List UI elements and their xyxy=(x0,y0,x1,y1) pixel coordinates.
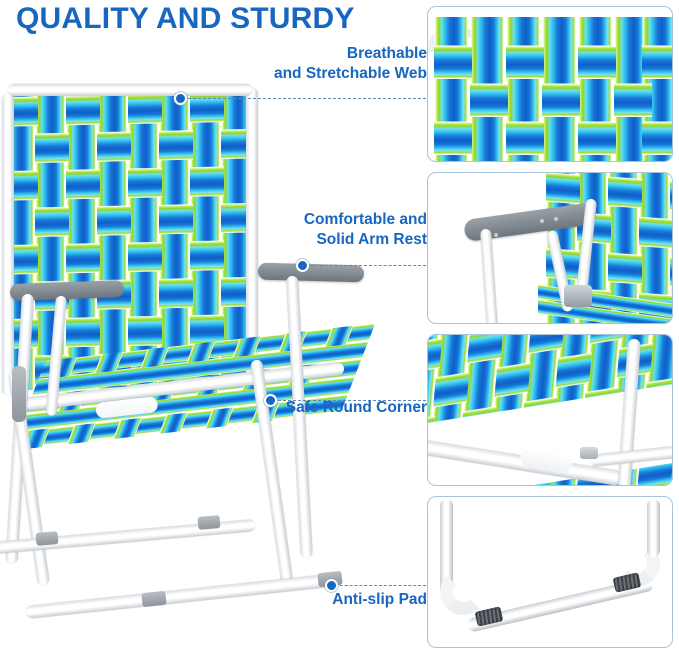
callout-anti-slip-pad: Anti-slip Pad xyxy=(332,590,427,610)
connector-line-web xyxy=(178,98,426,99)
anti-slip-panel-right-tube xyxy=(647,499,660,557)
callout-arm-rest-line1: Comfortable and xyxy=(304,210,427,230)
side-hinge-bracket xyxy=(12,366,26,422)
webbing-weave-pattern xyxy=(428,7,672,161)
armrest-rivet-2 xyxy=(554,217,558,221)
callout-breathable-web-line2: and Stretchable Web xyxy=(274,64,427,84)
armrest-marker-dot xyxy=(296,259,309,272)
anti-slip-pad-closeup-panel xyxy=(427,496,673,648)
main-product-image xyxy=(0,72,420,642)
pad-marker-dot xyxy=(325,579,338,592)
armrest-rivet-3 xyxy=(494,233,498,237)
callout-anti-slip-pad-line1: Anti-slip Pad xyxy=(332,590,427,610)
connector-line-pad xyxy=(330,585,426,586)
callout-round-corner: Safe Round Corner xyxy=(286,398,427,418)
armrest-panel-front-leg xyxy=(480,229,498,323)
round-corner-panel-bracket xyxy=(580,447,598,459)
backrest-left-tube xyxy=(2,94,14,394)
callout-breathable-web: Breathable and Stretchable Web xyxy=(274,44,427,84)
webbing-closeup-panel xyxy=(427,6,673,162)
foot-pad-front-left xyxy=(141,591,166,607)
backrest-top-tube xyxy=(8,84,252,96)
web-marker-dot xyxy=(174,92,187,105)
callout-arm-rest-line2: Solid Arm Rest xyxy=(304,230,427,250)
callout-round-corner-line1: Safe Round Corner xyxy=(286,398,427,418)
corner-marker-dot xyxy=(264,394,277,407)
callout-arm-rest: Comfortable and Solid Arm Rest xyxy=(304,210,427,250)
anti-slip-panel-left-elbow xyxy=(440,569,486,615)
backrest-right-tube xyxy=(246,88,258,378)
round-corner-closeup-panel xyxy=(427,334,673,486)
connector-line-arm xyxy=(300,265,426,266)
foot-pad-rear-right xyxy=(197,515,220,530)
callout-breathable-web-line1: Breathable xyxy=(274,44,427,64)
front-bottom-rail xyxy=(25,573,341,619)
foot-pad-rear-left xyxy=(35,531,58,546)
armrest-closeup-panel xyxy=(427,172,673,324)
page-title: QUALITY AND STURDY xyxy=(16,2,355,36)
armrest-hinge-bracket xyxy=(564,285,592,307)
armrest-rivet-1 xyxy=(540,219,544,223)
